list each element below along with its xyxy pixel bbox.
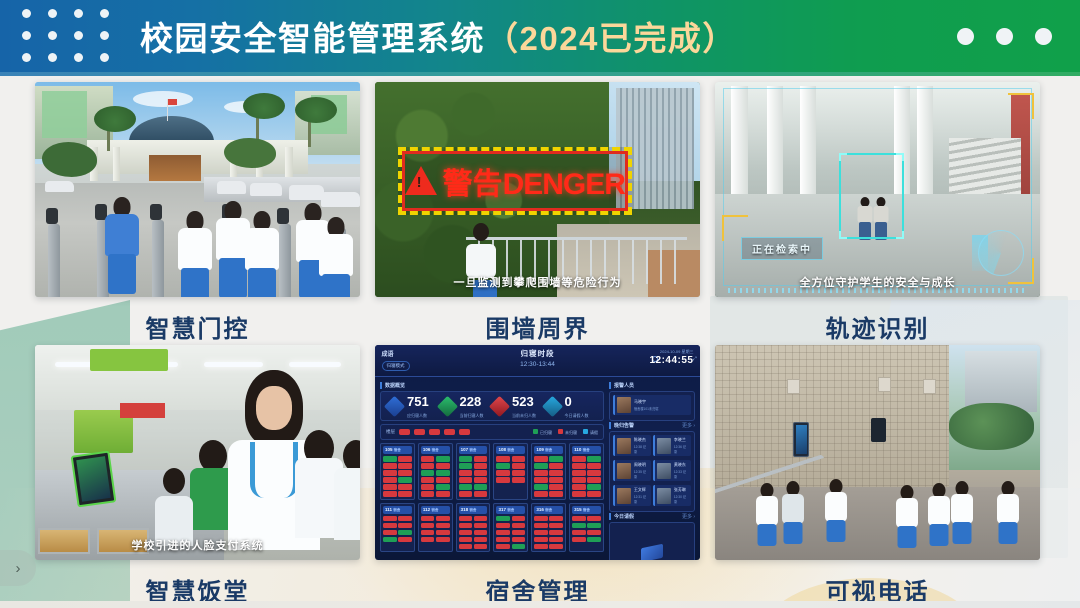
bed-status-cell[interactable]: [383, 470, 397, 476]
section-label-overview: 数据概览: [380, 382, 604, 389]
person-row[interactable]: 马晓宇宿舍楼101未归寝: [613, 395, 691, 415]
bed-status-cell[interactable]: [398, 456, 412, 462]
bed-status-cell[interactable]: [572, 456, 586, 462]
bed-status-cell[interactable]: [512, 530, 526, 536]
alert-person-card: 马晓宇宿舍楼101未归寝: [609, 391, 695, 421]
photo-dorm-dashboard: 成语 归寝模式 归寝时段 12:30-13:44 2024-10-09 星期三 …: [375, 345, 700, 560]
bed-status-cell[interactable]: [474, 491, 488, 497]
stat-value: 228: [460, 394, 482, 409]
bed-status-cell[interactable]: [512, 544, 526, 550]
stat-icon: [384, 396, 405, 417]
stat-item: 0今日请假人数: [545, 393, 598, 419]
bed-status-cell[interactable]: [436, 530, 450, 536]
legend-status-off: 未归寝: [558, 429, 577, 436]
bed-status-cell[interactable]: [436, 537, 450, 543]
bed-status-cell[interactable]: [587, 516, 601, 522]
card-caption-smart-gate: 智慧门控: [35, 309, 360, 344]
dashboard-topbar: 成语 归寝模式 归寝时段 12:30-13:44 2024-10-09 星期三 …: [375, 345, 700, 377]
bed-status-cell[interactable]: [398, 537, 412, 543]
expand-icon[interactable]: ⤢: [693, 356, 697, 362]
bed-status-cell[interactable]: [383, 530, 397, 536]
legend-status-leave: 请假: [583, 429, 598, 436]
room-number: 316 宿舍: [534, 506, 563, 514]
bed-status-cell[interactable]: [383, 516, 397, 522]
bed-status-cell[interactable]: [474, 463, 488, 469]
legend-status-on: 已归寝: [533, 429, 552, 436]
stat-value: 0: [565, 394, 572, 409]
section-label-late-alert: 晚归告警 更多 ›: [609, 422, 695, 429]
bed-status-cell[interactable]: [459, 470, 473, 476]
bed-status-cell[interactable]: [512, 537, 526, 543]
bed-status-cell[interactable]: [512, 477, 526, 483]
header-underline: [0, 72, 1080, 76]
face-payment-terminal: [71, 450, 117, 507]
nav-prev-button[interactable]: ›: [0, 550, 36, 586]
bed-status-cell[interactable]: [549, 530, 563, 536]
bed-status-cell[interactable]: [587, 463, 601, 469]
room-number: 106 宿舍: [421, 446, 450, 454]
avatar: [617, 397, 631, 413]
room-card[interactable]: 316 宿舍: [531, 503, 566, 553]
photo-subtitle: 一旦监测到攀爬围墙等危险行为: [375, 274, 700, 290]
person-row[interactable]: 王文辉12:31 记录: [613, 485, 651, 506]
room-card[interactable]: 318 宿舍: [456, 503, 491, 553]
more-link[interactable]: 更多 ›: [682, 513, 695, 520]
bed-status-cell[interactable]: [572, 537, 586, 543]
bed-status-cell[interactable]: [459, 491, 473, 497]
room-number: 318 宿舍: [459, 506, 488, 514]
section-label-today-leave: 今日请假 更多 ›: [609, 513, 695, 520]
bottom-strip: [0, 601, 1080, 608]
section-label-alert-person: 报警人员: [609, 382, 695, 389]
person-meta: 12:35 记录: [634, 469, 649, 479]
bed-status-cell[interactable]: [421, 463, 435, 469]
bed-status-cell[interactable]: [398, 477, 412, 483]
bed-status-cell[interactable]: [587, 484, 601, 490]
card-smart-canteen[interactable]: 学校引进的人脸支付系统 智慧饭堂: [35, 345, 360, 607]
bed-status-cell[interactable]: [421, 530, 435, 536]
bed-status-cell[interactable]: [549, 544, 563, 550]
bed-status-cell[interactable]: [398, 530, 412, 536]
stat-item: 228当前归寝人数: [440, 393, 493, 419]
card-caption-trajectory: 轨迹识别: [715, 309, 1040, 344]
bed-status-cell[interactable]: [459, 484, 473, 490]
bed-status-cell[interactable]: [398, 463, 412, 469]
bed-status-cell[interactable]: [459, 537, 473, 543]
bed-status-cell[interactable]: [459, 523, 473, 529]
bed-status-cell[interactable]: [534, 456, 548, 462]
person-name: 黄晓东: [674, 462, 686, 467]
room-grid: 105 宿舍106 宿舍107 宿舍108 宿舍109 宿舍110 宿舍111 …: [380, 443, 604, 552]
bed-status-cell[interactable]: [398, 523, 412, 529]
person-row[interactable]: 张芳琳12:30 记录: [653, 485, 691, 506]
bed-status-cell[interactable]: [421, 477, 435, 483]
stat-value: 751: [407, 394, 429, 409]
room-card[interactable]: 107 宿舍: [456, 443, 491, 500]
room-number: 107 宿舍: [459, 446, 488, 454]
late-alert-card: 陈晓杰12:38 记录李晓兰12:36 记录周晓明12:35 记录黄晓东12:3…: [609, 431, 695, 512]
bed-status-cell[interactable]: [496, 530, 510, 536]
card-trajectory[interactable]: 正在检索中 全方位守护学生的安全与成长 轨迹识别: [715, 82, 1040, 344]
bed-status-cell[interactable]: [534, 477, 548, 483]
card-wall-perimeter[interactable]: 警告DENGER 一旦监测到攀爬围墙等危险行为 围墙周界: [375, 82, 700, 344]
stat-label: 当前归寝人数: [460, 413, 484, 419]
person-meta: 宿舍楼101未归寝: [634, 406, 658, 411]
bed-status-cell[interactable]: [534, 516, 548, 522]
bed-status-cell[interactable]: [459, 530, 473, 536]
photo-wall-perimeter: 警告DENGER 一旦监测到攀爬围墙等危险行为: [375, 82, 700, 297]
room-card[interactable]: 112 宿舍: [418, 503, 453, 553]
bed-status-cell[interactable]: [572, 484, 586, 490]
page-title-main: 校园安全智能管理系统: [140, 20, 485, 57]
bed-status-cell[interactable]: [474, 523, 488, 529]
room-number: 315 宿舍: [572, 506, 601, 514]
bed-status-cell[interactable]: [496, 470, 510, 476]
bed-status-cell[interactable]: [496, 516, 510, 522]
bed-status-cell[interactable]: [512, 463, 526, 469]
bed-status-cell[interactable]: [549, 484, 563, 490]
room-card[interactable]: 109 宿舍: [531, 443, 566, 500]
warning-triangle-icon: [405, 166, 437, 195]
room-card[interactable]: 110 宿舍: [569, 443, 604, 500]
photo-video-phone: [715, 345, 1040, 560]
bed-status-cell[interactable]: [436, 516, 450, 522]
room-number: 112 宿舍: [421, 506, 450, 514]
person-meta: 12:31 记录: [634, 494, 649, 504]
person-meta: 12:33 记录: [674, 469, 689, 479]
detection-box: [839, 153, 904, 239]
page-header: 校园安全智能管理系统（2024已完成）: [0, 0, 1080, 72]
person-row[interactable]: 李晓兰12:36 记录: [653, 435, 691, 456]
bed-status-cell[interactable]: [549, 463, 563, 469]
avatar: [617, 438, 631, 454]
bed-status-cell[interactable]: [474, 477, 488, 483]
bed-status-cell[interactable]: [459, 544, 473, 550]
bed-status-cell[interactable]: [474, 537, 488, 543]
bed-status-cell[interactable]: [436, 477, 450, 483]
person-name: 陈晓杰: [634, 437, 646, 442]
stat-icon: [436, 396, 457, 417]
bed-status-cell[interactable]: [459, 516, 473, 522]
bed-status-cell[interactable]: [421, 470, 435, 476]
bed-status-cell[interactable]: [436, 470, 450, 476]
bed-status-cell[interactable]: [534, 537, 548, 543]
photo-smart-gate: [35, 82, 360, 297]
bed-status-cell[interactable]: [496, 456, 510, 462]
bed-status-cell[interactable]: [534, 523, 548, 529]
person-name: 张芳琳: [674, 487, 686, 492]
avatar: [657, 438, 671, 454]
warning-sign: 警告DENGER: [398, 147, 632, 216]
bed-status-cell[interactable]: [459, 477, 473, 483]
bed-status-cell[interactable]: [512, 456, 526, 462]
room-card[interactable]: 105 宿舍: [380, 443, 415, 500]
bed-status-cell[interactable]: [398, 491, 412, 497]
bed-status-cell[interactable]: [587, 530, 601, 536]
avatar: [617, 463, 631, 479]
photo-subtitle: 全方位守护学生的安全与成长: [715, 274, 1040, 290]
card-video-phone[interactable]: 可视电话: [715, 345, 1040, 607]
bed-status-cell[interactable]: [512, 523, 526, 529]
bed-status-cell[interactable]: [534, 491, 548, 497]
bed-status-cell[interactable]: [383, 484, 397, 490]
bed-status-cell[interactable]: [549, 491, 563, 497]
slide-root: 校园安全智能管理系统（2024已完成）: [0, 0, 1080, 608]
person-name: 马晓宇: [634, 399, 646, 404]
more-link[interactable]: 更多 ›: [682, 422, 695, 429]
card-caption-wall-perimeter: 围墙周界: [375, 309, 700, 344]
stat-label: 应归寝人数: [407, 413, 429, 419]
avatar: [617, 488, 631, 504]
bed-status-cell[interactable]: [534, 463, 548, 469]
empty-box-icon: [641, 543, 663, 560]
stat-item: 523当前未归人数: [492, 393, 545, 419]
bed-status-cell[interactable]: [587, 477, 601, 483]
warning-text: 警告DENGER: [443, 159, 625, 203]
bed-status-cell[interactable]: [587, 470, 601, 476]
stats-row: 751应归寝人数 228当前归寝人数 523当前未归人数: [380, 391, 604, 421]
bed-status-cell[interactable]: [398, 484, 412, 490]
person-name: 周晓明: [634, 462, 646, 467]
bed-status-cell[interactable]: [421, 523, 435, 529]
bed-status-cell[interactable]: [549, 470, 563, 476]
avatar: [657, 488, 671, 504]
bed-status-cell[interactable]: [496, 477, 510, 483]
bed-status-cell[interactable]: [572, 523, 586, 529]
room-card[interactable]: 106 宿舍: [418, 443, 453, 500]
bed-status-cell[interactable]: [383, 477, 397, 483]
legend-floor-label: 楼层: [386, 429, 395, 435]
hud-status-text: 正在检索中: [741, 237, 823, 260]
bed-status-cell[interactable]: [436, 456, 450, 462]
bed-status-cell[interactable]: [436, 523, 450, 529]
page-title: 校园安全智能管理系统（2024已完成）: [140, 12, 737, 60]
bed-status-cell[interactable]: [421, 456, 435, 462]
bed-status-cell[interactable]: [496, 537, 510, 543]
bed-status-cell[interactable]: [549, 456, 563, 462]
room-card[interactable]: 315 宿舍: [569, 503, 604, 553]
bed-status-cell[interactable]: [474, 456, 488, 462]
room-number: 317 宿舍: [496, 506, 525, 514]
bed-status-cell[interactable]: [383, 537, 397, 543]
bed-status-cell[interactable]: [496, 523, 510, 529]
bed-status-cell[interactable]: [436, 484, 450, 490]
person-name: 李晓兰: [674, 437, 686, 442]
legend-row: 楼层 已归寝 未归寝 请假: [380, 424, 604, 440]
radar-icon: [978, 230, 1024, 276]
room-number: 111 宿舍: [383, 506, 412, 514]
photo-subtitle: 学校引进的人脸支付系统: [35, 537, 360, 553]
card-smart-gate[interactable]: 智慧门控: [35, 82, 360, 344]
wall-phone: [871, 418, 886, 442]
bed-status-cell[interactable]: [534, 544, 548, 550]
bed-status-cell[interactable]: [534, 484, 548, 490]
room-number: 105 宿舍: [383, 446, 412, 454]
room-card[interactable]: 111 宿舍: [380, 503, 415, 553]
bed-status-cell[interactable]: [496, 463, 510, 469]
bed-status-cell[interactable]: [572, 463, 586, 469]
bed-status-cell[interactable]: [572, 470, 586, 476]
bed-status-cell[interactable]: [572, 491, 586, 497]
bed-status-cell[interactable]: [549, 537, 563, 543]
bed-status-cell[interactable]: [587, 456, 601, 462]
bed-status-cell[interactable]: [474, 544, 488, 550]
person-meta: 12:36 记录: [674, 444, 689, 454]
bed-status-cell[interactable]: [459, 463, 473, 469]
bed-status-cell[interactable]: [398, 470, 412, 476]
stat-value: 523: [512, 394, 534, 409]
stat-icon: [489, 396, 510, 417]
dot-grid-icon: [22, 9, 110, 63]
bed-status-cell[interactable]: [474, 470, 488, 476]
bed-status-cell[interactable]: [474, 516, 488, 522]
bed-status-cell[interactable]: [572, 516, 586, 522]
today-leave-card: 暂无数据: [609, 522, 695, 560]
photo-smart-canteen: 学校引进的人脸支付系统: [35, 345, 360, 560]
bed-status-cell[interactable]: [383, 456, 397, 462]
bed-status-cell[interactable]: [421, 516, 435, 522]
bed-status-cell[interactable]: [459, 456, 473, 462]
room-number: 108 宿舍: [496, 446, 525, 454]
bed-status-cell[interactable]: [496, 544, 510, 550]
video-phone-tablet: [793, 422, 809, 456]
feature-grid: 智慧门控 警告DENGER 一旦监测到攀爬围墙等危: [35, 82, 1045, 592]
bed-status-cell[interactable]: [436, 491, 450, 497]
room-card[interactable]: 317 宿舍: [493, 503, 528, 553]
bed-status-cell[interactable]: [549, 477, 563, 483]
room-number: 109 宿舍: [534, 446, 563, 454]
stat-label: 当前未归人数: [512, 413, 536, 419]
dashboard-clock: 12:44:55: [649, 355, 693, 366]
person-meta: 12:38 记录: [634, 444, 649, 454]
bed-status-cell[interactable]: [534, 530, 548, 536]
page-title-year: （2024已完成）: [485, 20, 737, 57]
person-meta: 12:30 记录: [674, 494, 689, 504]
bed-status-cell[interactable]: [587, 523, 601, 529]
stat-label: 今日请假人数: [565, 413, 589, 419]
person-row[interactable]: 黄晓东12:33 记录: [653, 460, 691, 481]
bed-status-cell[interactable]: [549, 516, 563, 522]
person-row[interactable]: 陈晓杰12:38 记录: [613, 435, 651, 456]
person-name: 王文辉: [634, 487, 646, 492]
bed-status-cell[interactable]: [549, 523, 563, 529]
bed-status-cell[interactable]: [587, 537, 601, 543]
bed-status-cell[interactable]: [398, 516, 412, 522]
bed-status-cell[interactable]: [587, 491, 601, 497]
person-row[interactable]: 周晓明12:35 记录: [613, 460, 651, 481]
bed-status-cell[interactable]: [474, 530, 488, 536]
bed-status-cell[interactable]: [421, 484, 435, 490]
bed-status-cell[interactable]: [572, 477, 586, 483]
bed-status-cell[interactable]: [512, 516, 526, 522]
bed-status-cell[interactable]: [383, 491, 397, 497]
card-dorm-management[interactable]: 成语 归寝模式 归寝时段 12:30-13:44 2024-10-09 星期三 …: [375, 345, 700, 607]
bed-status-cell[interactable]: [474, 484, 488, 490]
bed-status-cell[interactable]: [383, 463, 397, 469]
room-number: 110 宿舍: [572, 446, 601, 454]
bed-status-cell[interactable]: [421, 491, 435, 497]
bed-status-cell[interactable]: [383, 523, 397, 529]
bed-status-cell[interactable]: [421, 537, 435, 543]
bed-status-cell[interactable]: [512, 470, 526, 476]
bed-status-cell[interactable]: [572, 530, 586, 536]
stat-item: 751应归寝人数: [387, 393, 440, 419]
avatar: [657, 463, 671, 479]
room-card[interactable]: 108 宿舍: [493, 443, 528, 500]
bed-status-cell[interactable]: [534, 470, 548, 476]
stat-icon: [541, 396, 562, 417]
photo-trajectory: 正在检索中 全方位守护学生的安全与成长: [715, 82, 1040, 297]
three-dots-icon: [957, 28, 1052, 45]
bed-status-cell[interactable]: [436, 463, 450, 469]
